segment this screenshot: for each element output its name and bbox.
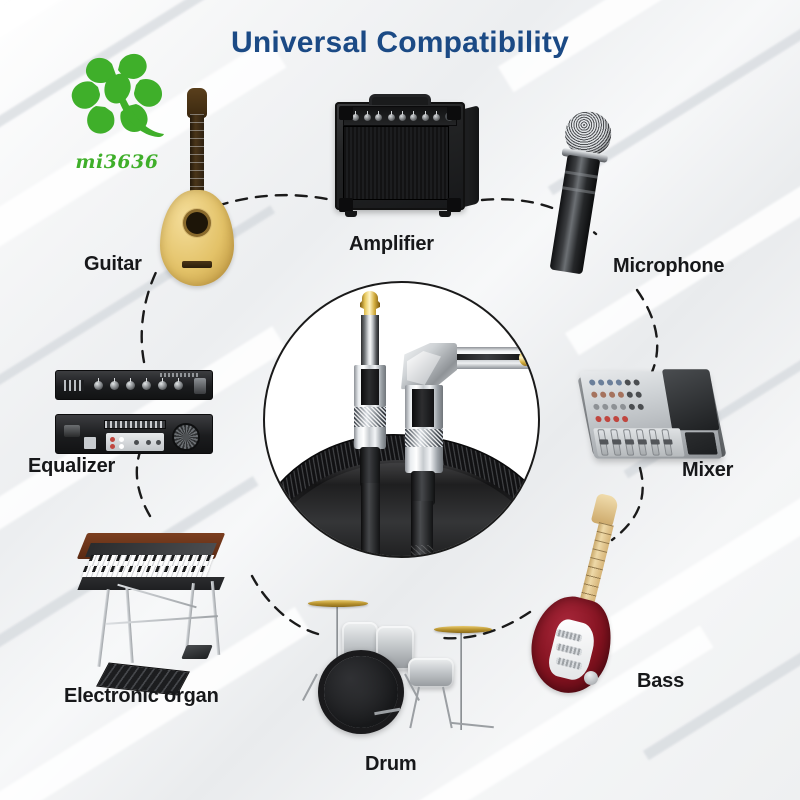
plug-insulator-band xyxy=(361,369,379,405)
mixer-surface xyxy=(580,371,723,458)
snare-drum xyxy=(408,658,454,688)
amplifier-control-panel xyxy=(343,106,457,126)
bass-headstock xyxy=(591,493,620,527)
device-label-mixer: Mixer xyxy=(682,459,733,482)
electric-bass-guitar-icon xyxy=(528,492,638,697)
plug-gold-tip xyxy=(358,291,382,317)
device-amplifier xyxy=(335,88,483,218)
plug-strain-relief xyxy=(360,447,380,487)
electronic-organ-icon xyxy=(72,533,242,665)
device-label-equalizer: Equalizer xyxy=(28,455,115,478)
plug-gold-tip xyxy=(519,346,540,370)
equalizer-rca-jack xyxy=(119,444,124,449)
device-label-microphone: Microphone xyxy=(613,255,724,278)
amplifier-corner xyxy=(447,198,461,212)
organ-stand-leg xyxy=(211,581,220,655)
mixer-master-section xyxy=(662,369,720,430)
plug-collar xyxy=(405,447,443,473)
hihat-pedal-leg xyxy=(450,722,494,729)
bass-drum-head xyxy=(324,656,398,728)
device-electronic-organ xyxy=(72,533,242,665)
organ-stand-brace xyxy=(106,615,218,625)
equalizer-fan xyxy=(172,423,200,451)
amplifier-corner xyxy=(447,106,461,120)
crash-cymbal xyxy=(308,600,368,607)
drum-kit-icon xyxy=(300,588,500,750)
cymbal-stand xyxy=(460,630,462,730)
right-angle-ts-plug xyxy=(401,343,540,483)
device-mixer xyxy=(580,358,730,468)
guitar-body xyxy=(160,190,234,286)
equalizer-slider-bank xyxy=(104,420,166,429)
plug-knurled-grip xyxy=(405,429,443,447)
amplifier-foot xyxy=(345,211,357,217)
organ-body xyxy=(77,577,224,590)
equalizer-rca-jack xyxy=(134,440,139,445)
cable-tail-straight xyxy=(361,483,380,558)
guitar-bridge xyxy=(182,261,212,268)
right-angle-arm-stripe xyxy=(445,354,529,360)
plug-insulator-band xyxy=(412,389,434,427)
connector-equalizer-guitar xyxy=(142,268,158,362)
amplifier-speaker-grille xyxy=(343,126,449,200)
acoustic-guitar-icon xyxy=(160,86,240,286)
equalizer-rca-jack xyxy=(110,444,115,449)
plug-shaft xyxy=(361,315,379,369)
guitar-cable-product-icon xyxy=(265,283,538,556)
organ-stand-leg xyxy=(125,587,133,663)
hihat-cymbal xyxy=(434,626,492,633)
device-label-bass: Bass xyxy=(637,670,684,693)
guitar-amplifier-icon xyxy=(335,88,483,218)
equalizer-upper-unit xyxy=(55,370,213,400)
guitar-frets xyxy=(190,114,204,200)
bass-drum-leg xyxy=(302,674,318,701)
equalizer-rca-jack xyxy=(119,437,124,442)
device-drum xyxy=(300,588,500,750)
equalizer-rca-jack xyxy=(146,440,151,445)
device-bass xyxy=(528,492,638,697)
device-equalizer xyxy=(55,370,225,460)
audio-mixer-icon xyxy=(580,358,730,468)
amplifier-foot xyxy=(439,211,451,217)
equalizer-rca-jack xyxy=(110,437,115,442)
device-label-amplifier: Amplifier xyxy=(349,233,434,256)
device-guitar xyxy=(160,86,240,286)
rack-equalizer-icon xyxy=(55,370,225,460)
guitar-soundhole xyxy=(186,212,208,234)
plug-knurled-grip xyxy=(354,407,386,427)
device-label-guitar: Guitar xyxy=(84,253,142,276)
organ-stand-leg xyxy=(97,589,109,667)
product-image-circle xyxy=(263,281,540,558)
infographic-canvas: Universal Compatibility mi3636 xyxy=(0,0,800,800)
amplifier-corner xyxy=(339,106,353,120)
plug-strain-relief xyxy=(411,471,435,505)
amplifier-corner xyxy=(339,198,353,212)
equalizer-rca-jack xyxy=(156,440,161,445)
organ-expression-pedal xyxy=(181,645,213,659)
plug-collar xyxy=(354,427,386,449)
straight-ts-plug xyxy=(353,291,387,481)
organ-upper-sharps xyxy=(89,555,213,561)
equalizer-lower-unit xyxy=(55,414,213,454)
device-label-electronic-organ: Electronic organ xyxy=(64,685,219,708)
connector-organ-equalizer xyxy=(137,452,150,516)
organ-lower-sharps xyxy=(83,566,209,572)
device-label-drum: Drum xyxy=(365,753,416,776)
amplifier-handle xyxy=(369,94,431,105)
